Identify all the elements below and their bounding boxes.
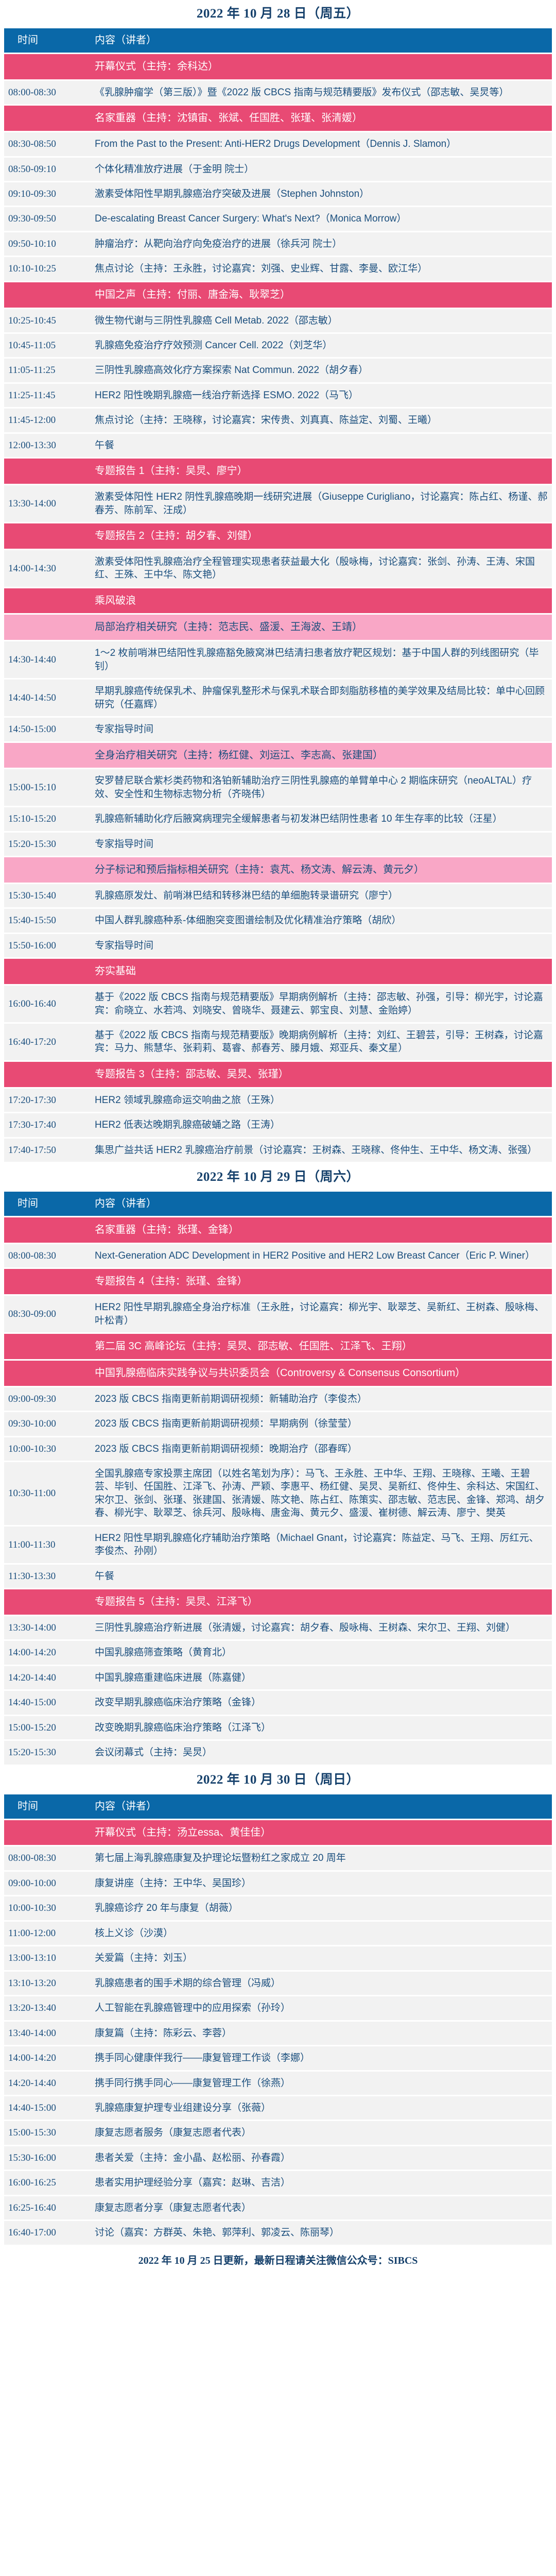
agenda-time: 08:30-08:50 — [4, 132, 86, 156]
agenda-content: 专家指导时间 — [86, 833, 552, 856]
agenda-time: 10:30-11:00 — [4, 1462, 86, 1525]
agenda-row: 14:50-15:00专家指导时间 — [4, 718, 552, 741]
agenda-row: 08:30-08:50From the Past to the Present:… — [4, 132, 552, 156]
agenda-row: 08:00-08:30《乳腺肿瘤学（第三版）》暨《2022 版 CBCS 指南与… — [4, 81, 552, 104]
agenda-content: 乳腺癌诊疗 20 年与康复（胡薇） — [86, 1896, 552, 1920]
agenda-content: 焦点讨论（主持：王永胜，讨论嘉宾：刘强、史业辉、甘露、李曼、欧江华） — [86, 257, 552, 280]
agenda-time: 13:30-14:00 — [4, 1616, 86, 1639]
agenda-row: 13:00-13:10关爱篇（主持：刘玉） — [4, 1946, 552, 1970]
agenda-row: 14:40-15:00改变早期乳腺癌临床治疗策略（金锋） — [4, 1691, 552, 1714]
agenda-content: 乳腺癌康复护理专业组建设分享（张薇） — [86, 2096, 552, 2120]
agenda-row: 15:50-16:00专家指导时间 — [4, 934, 552, 957]
agenda-content: De-escalating Breast Cancer Surgery: Wha… — [86, 207, 552, 230]
agenda-content: 肿瘤治疗：从靶向治疗向免疫治疗的进展（徐兵河 院士） — [86, 232, 552, 256]
agenda-time: 16:00-16:25 — [4, 2171, 86, 2194]
agenda-time — [4, 459, 86, 484]
agenda-time: 15:30-16:00 — [4, 2146, 86, 2170]
agenda-time — [4, 1269, 86, 1294]
agenda-content: 2023 版 CBCS 指南更新前期调研视频：早期病例（徐莹莹） — [86, 1412, 552, 1435]
agenda-row: 15:00-15:30康复志愿者服务（康复志愿者代表） — [4, 2121, 552, 2144]
agenda-content: 午餐 — [86, 434, 552, 457]
agenda-time: 15:20-15:30 — [4, 1741, 86, 1764]
agenda-content: 人工智能在乳腺癌管理中的应用探索（孙玲） — [86, 1996, 552, 2020]
agenda-row: 14:20-14:40携手同行携手同心——康复管理工作（徐燕） — [4, 2072, 552, 2095]
agenda-row: 13:20-13:40人工智能在乳腺癌管理中的应用探索（孙玲） — [4, 1996, 552, 2020]
session-header-row: 专题报告 4（主持：张瑾、金锋） — [4, 1269, 552, 1294]
agenda-time: 15:30-15:40 — [4, 884, 86, 907]
agenda-row: 17:30-17:40HER2 低表达晚期乳腺癌破蛹之路（王涛） — [4, 1113, 552, 1137]
agenda-table: 时间内容（讲者）名家重器（主持：张瑾、金锋）08:00-08:30Next-Ge… — [4, 1190, 552, 1766]
subsession-header-row: 全身治疗相关研究（主持：杨红健、刘运江、李志高、张建国） — [4, 743, 552, 768]
agenda-time: 09:50-10:10 — [4, 232, 86, 256]
agenda-row: 11:30-13:30午餐 — [4, 1565, 552, 1588]
session-header-row: 专题报告 5（主持：吴炅、江泽飞） — [4, 1589, 552, 1615]
agenda-time: 15:50-16:00 — [4, 934, 86, 957]
agenda-content: 患者关爱（主持：金小晶、赵松丽、孙春霞） — [86, 2146, 552, 2170]
agenda-content: 乳腺癌新辅助化疗后腋窝病理完全缓解患者与初发淋巴结阴性患者 10 年生存率的比较… — [86, 807, 552, 831]
agenda-row: 09:00-10:00康复讲座（主持：王中华、吴国珍） — [4, 1872, 552, 1895]
table-header-row: 时间内容（讲者） — [4, 1794, 552, 1819]
column-header-time: 时间 — [4, 1794, 86, 1819]
agenda-row: 09:30-10:002023 版 CBCS 指南更新前期调研视频：早期病例（徐… — [4, 1412, 552, 1435]
agenda-row: 13:30-14:00三阴性乳腺癌治疗新进展（张清媛，讨论嘉宾：胡夕春、殷咏梅、… — [4, 1616, 552, 1639]
agenda-time: 09:00-09:30 — [4, 1387, 86, 1411]
agenda-content: 中国乳腺癌重建临床进展（陈嘉健） — [86, 1666, 552, 1689]
agenda-row: 17:20-17:30HER2 领域乳腺癌命运交响曲之旅（王殊） — [4, 1089, 552, 1112]
agenda-row: 15:40-15:50中国人群乳腺癌种系-体细胞突变图谱绘制及优化精准治疗策略（… — [4, 909, 552, 932]
agenda-time: 13:10-13:20 — [4, 1972, 86, 1995]
session-header-row: 中国之声（主持：付丽、唐金海、耿翠芝） — [4, 282, 552, 308]
agenda-content: 携手同心健康伴我行——康复管理工作谈（李娜） — [86, 2046, 552, 2070]
agenda-content: 开幕仪式（主持：汤立essa、黄佳佳） — [86, 1820, 552, 1845]
agenda-time — [4, 523, 86, 549]
agenda-time: 13:20-13:40 — [4, 1996, 86, 2020]
session-header-row: 名家重器（主持：张瑾、金锋） — [4, 1217, 552, 1243]
agenda-content: 2023 版 CBCS 指南更新前期调研视频：晚期治疗（邵春晖） — [86, 1437, 552, 1461]
agenda-content: 专题报告 1（主持：吴炅、廖宁） — [86, 459, 552, 484]
agenda-time: 13:40-14:00 — [4, 2022, 86, 2045]
agenda-time: 14:40-15:00 — [4, 2096, 86, 2120]
agenda-page: 2022 年 10 月 28 日（周五）时间内容（讲者）开幕仪式（主持：余科达）… — [0, 0, 556, 2275]
subsession-header-row: 局部治疗相关研究（主持：范志民、盛湲、王海波、王靖） — [4, 615, 552, 640]
agenda-row: 14:30-14:401～2 枚前哨淋巴结阳性乳腺癌豁免腋窝淋巴结清扫患者放疗靶… — [4, 641, 552, 678]
agenda-time: 12:00-13:30 — [4, 434, 86, 457]
agenda-row: 09:50-10:10肿瘤治疗：从靶向治疗向免疫治疗的进展（徐兵河 院士） — [4, 232, 552, 256]
agenda-time: 09:30-09:50 — [4, 207, 86, 230]
agenda-time: 08:00-08:30 — [4, 1846, 86, 1870]
agenda-time: 16:40-17:00 — [4, 2221, 86, 2244]
session-header-row: 专题报告 3（主持：邵志敏、吴炅、张瑾） — [4, 1062, 552, 1087]
agenda-content: 乳腺癌患者的围手术期的综合管理（冯威） — [86, 1972, 552, 1995]
agenda-row: 09:30-09:50De-escalating Breast Cancer S… — [4, 207, 552, 230]
session-header-row: 中国乳腺癌临床实践争议与共识委员会（Controversy & Consensu… — [4, 1361, 552, 1386]
agenda-content: 专题报告 5（主持：吴炅、江泽飞） — [86, 1589, 552, 1615]
agenda-row: 11:45-12:00焦点讨论（主持：王晓稼，讨论嘉宾：宋传贵、刘真真、陈益定、… — [4, 409, 552, 432]
agenda-content: 1～2 枚前哨淋巴结阳性乳腺癌豁免腋窝淋巴结清扫患者放疗靶区规划：基于中国人群的… — [86, 641, 552, 678]
agenda-time — [4, 1361, 86, 1386]
agenda-time: 08:00-08:30 — [4, 1244, 86, 1267]
agenda-content: 2023 版 CBCS 指南更新前期调研视频：新辅助治疗（李俊杰） — [86, 1387, 552, 1411]
agenda-time: 17:40-17:50 — [4, 1139, 86, 1162]
agenda-row: 15:30-16:00患者关爱（主持：金小晶、赵松丽、孙春霞） — [4, 2146, 552, 2170]
agenda-time: 13:30-14:00 — [4, 485, 86, 522]
agenda-time: 09:00-10:00 — [4, 1872, 86, 1895]
agenda-time: 16:25-16:40 — [4, 2196, 86, 2219]
agenda-time: 15:40-15:50 — [4, 909, 86, 932]
agenda-content: 个体化精准放疗进展（于金明 院士） — [86, 158, 552, 181]
agenda-content: 中国人群乳腺癌种系-体细胞突变图谱绘制及优化精准治疗策略（胡欣） — [86, 909, 552, 932]
agenda-row: 16:00-16:25患者实用护理经验分享（嘉宾：赵琳、吉洁） — [4, 2171, 552, 2194]
agenda-content: 全国乳腺癌专家投票主席团（以姓名笔划为序）：马飞、王永胜、王中华、王翔、王晓稼、… — [86, 1462, 552, 1525]
agenda-row: 16:00-16:40基于《2022 版 CBCS 指南与规范精要版》早期病例解… — [4, 986, 552, 1022]
agenda-time: 15:20-15:30 — [4, 833, 86, 856]
day-block: 2022 年 10 月 29 日（周六）时间内容（讲者）名家重器（主持：张瑾、金… — [4, 1163, 552, 1766]
session-header-row: 专题报告 1（主持：吴炅、廖宁） — [4, 459, 552, 484]
agenda-time: 15:10-15:20 — [4, 807, 86, 831]
agenda-content: 乳腺癌免疫治疗疗效预测 Cancer Cell. 2022（刘芝华） — [86, 334, 552, 357]
agenda-table: 时间内容（讲者）开幕仪式（主持：余科达）08:00-08:30《乳腺肿瘤学（第三… — [4, 27, 552, 1163]
agenda-row: 08:50-09:10个体化精准放疗进展（于金明 院士） — [4, 158, 552, 181]
agenda-time — [4, 959, 86, 984]
table-header-row: 时间内容（讲者） — [4, 1192, 552, 1216]
agenda-time: 15:00-15:30 — [4, 2121, 86, 2144]
agenda-row: 12:00-13:30午餐 — [4, 434, 552, 457]
agenda-content: 早期乳腺癌传统保乳术、肿瘤保乳整形术与保乳术联合即刻脂肪移植的美学效果及结局比较… — [86, 680, 552, 716]
agenda-time: 11:00-11:30 — [4, 1527, 86, 1563]
agenda-time: 14:00-14:30 — [4, 550, 86, 587]
agenda-time: 11:25-11:45 — [4, 384, 86, 407]
agenda-row: 10:45-11:05乳腺癌免疫治疗疗效预测 Cancer Cell. 2022… — [4, 334, 552, 357]
agenda-time — [4, 588, 86, 614]
agenda-time: 10:10-10:25 — [4, 257, 86, 280]
agenda-content: 患者实用护理经验分享（嘉宾：赵琳、吉洁） — [86, 2171, 552, 2194]
session-header-row: 夯实基础 — [4, 959, 552, 984]
agenda-time: 15:00-15:20 — [4, 1716, 86, 1739]
agenda-content: 关爱篇（主持：刘玉） — [86, 1946, 552, 1970]
agenda-content: HER2 阳性早期乳腺癌全身治疗标准（王永胜，讨论嘉宾：柳光宇、耿翠芝、吴新红、… — [86, 1296, 552, 1332]
days-container: 2022 年 10 月 28 日（周五）时间内容（讲者）开幕仪式（主持：余科达）… — [4, 0, 552, 2246]
day-title: 2022 年 10 月 29 日（周六） — [4, 1163, 552, 1190]
agenda-time — [4, 54, 86, 79]
agenda-time: 10:25-10:45 — [4, 309, 86, 332]
agenda-time: 14:40-15:00 — [4, 1691, 86, 1714]
agenda-row: 14:40-15:00乳腺癌康复护理专业组建设分享（张薇） — [4, 2096, 552, 2120]
agenda-time: 13:00-13:10 — [4, 1946, 86, 1970]
agenda-content: 三阴性乳腺癌高效化疗方案探索 Nat Commun. 2022（胡夕春） — [86, 359, 552, 382]
session-header-row: 开幕仪式（主持：余科达） — [4, 54, 552, 79]
agenda-row: 11:25-11:45HER2 阳性晚期乳腺癌一线治疗新选择 ESMO. 202… — [4, 384, 552, 407]
agenda-content: 名家重器（主持：张瑾、金锋） — [86, 1217, 552, 1243]
agenda-row: 14:00-14:20中国乳腺癌筛查策略（黄育北） — [4, 1641, 552, 1664]
agenda-time: 14:00-14:20 — [4, 1641, 86, 1664]
subsession-header-row: 分子标记和预后指标相关研究（主持：袁芃、杨文涛、解云涛、黄元夕） — [4, 857, 552, 883]
agenda-content: 中国乳腺癌筛查策略（黄育北） — [86, 1641, 552, 1664]
agenda-row: 15:00-15:10安罗替尼联合紫杉类药物和洛铂新辅助治疗三阴性乳腺癌的单臂单… — [4, 769, 552, 806]
agenda-content: 康复志愿者分享（康复志愿者代表） — [86, 2196, 552, 2219]
agenda-content: 《乳腺肿瘤学（第三版）》暨《2022 版 CBCS 指南与规范精要版》发布仪式（… — [86, 81, 552, 104]
agenda-row: 10:30-11:00全国乳腺癌专家投票主席团（以姓名笔划为序）：马飞、王永胜、… — [4, 1462, 552, 1525]
agenda-content: 乘风破浪 — [86, 588, 552, 614]
agenda-row: 10:25-10:45微生物代谢与三阴性乳腺癌 Cell Metab. 2022… — [4, 309, 552, 332]
agenda-content: 专家指导时间 — [86, 718, 552, 741]
agenda-content: 名家重器（主持：沈镇宙、张斌、任国胜、张瑾、张清媛） — [86, 106, 552, 131]
agenda-time: 17:30-17:40 — [4, 1113, 86, 1137]
agenda-row: 08:00-08:30第七届上海乳腺癌康复及护理论坛暨粉红之家成立 20 周年 — [4, 1846, 552, 1870]
agenda-row: 15:10-15:20乳腺癌新辅助化疗后腋窝病理完全缓解患者与初发淋巴结阴性患者… — [4, 807, 552, 831]
agenda-content: HER2 低表达晚期乳腺癌破蛹之路（王涛） — [86, 1113, 552, 1137]
column-header-content: 内容（讲者） — [86, 28, 552, 53]
agenda-content: 第二届 3C 高峰论坛（主持：吴炅、邵志敏、任国胜、江泽飞、王翔） — [86, 1334, 552, 1359]
agenda-time — [4, 1820, 86, 1845]
day-block: 2022 年 10 月 30 日（周日）时间内容（讲者）开幕仪式（主持：汤立es… — [4, 1766, 552, 2246]
agenda-time: 11:45-12:00 — [4, 409, 86, 432]
agenda-content: 激素受体阳性 HER2 阴性乳腺癌晚期一线研究进展（Giuseppe Curig… — [86, 485, 552, 522]
agenda-time: 14:40-14:50 — [4, 680, 86, 716]
agenda-content: 夯实基础 — [86, 959, 552, 984]
agenda-row: 10:00-10:302023 版 CBCS 指南更新前期调研视频：晚期治疗（邵… — [4, 1437, 552, 1461]
day-title: 2022 年 10 月 30 日（周日） — [4, 1766, 552, 1793]
agenda-content: 集思广益共话 HER2 乳腺癌治疗前景（讨论嘉宾：王树森、王晓稼、佟仲生、王中华… — [86, 1139, 552, 1162]
agenda-time: 08:00-08:30 — [4, 81, 86, 104]
agenda-content: 改变早期乳腺癌临床治疗策略（金锋） — [86, 1691, 552, 1714]
agenda-time — [4, 1589, 86, 1615]
agenda-content: 讨论（嘉宾：方群英、朱艳、郭萍利、郭凌云、陈丽琴） — [86, 2221, 552, 2244]
agenda-time: 14:20-14:40 — [4, 2072, 86, 2095]
agenda-content: 中国乳腺癌临床实践争议与共识委员会（Controversy & Consensu… — [86, 1361, 552, 1386]
agenda-time — [4, 615, 86, 640]
agenda-time: 14:50-15:00 — [4, 718, 86, 741]
agenda-content: 全身治疗相关研究（主持：杨红健、刘运江、李志高、张建国） — [86, 743, 552, 768]
agenda-row: 09:10-09:30激素受体阳性早期乳腺癌治疗突破及进展（Stephen Jo… — [4, 182, 552, 206]
agenda-content: 乳腺癌原发灶、前哨淋巴结和转移淋巴结的单细胞转录谱研究（廖宁） — [86, 884, 552, 907]
agenda-row: 15:30-15:40乳腺癌原发灶、前哨淋巴结和转移淋巴结的单细胞转录谱研究（廖… — [4, 884, 552, 907]
column-header-time: 时间 — [4, 1192, 86, 1216]
agenda-content: 激素受体阳性乳腺癌治疗全程管理实现患者获益最大化（殷咏梅，讨论嘉宾：张剑、孙涛、… — [86, 550, 552, 587]
agenda-content: 焦点讨论（主持：王晓稼，讨论嘉宾：宋传贵、刘真真、陈益定、刘蜀、王曦） — [86, 409, 552, 432]
agenda-time: 10:00-10:30 — [4, 1896, 86, 1920]
agenda-content: 第七届上海乳腺癌康复及护理论坛暨粉红之家成立 20 周年 — [86, 1846, 552, 1870]
agenda-row: 14:20-14:40中国乳腺癌重建临床进展（陈嘉健） — [4, 1666, 552, 1689]
agenda-time: 08:50-09:10 — [4, 158, 86, 181]
agenda-time: 11:00-12:00 — [4, 1922, 86, 1945]
session-header-row: 开幕仪式（主持：汤立essa、黄佳佳） — [4, 1820, 552, 1845]
agenda-row: 10:00-10:30乳腺癌诊疗 20 年与康复（胡薇） — [4, 1896, 552, 1920]
agenda-row: 11:05-11:25三阴性乳腺癌高效化疗方案探索 Nat Commun. 20… — [4, 359, 552, 382]
agenda-content: Next-Generation ADC Development in HER2 … — [86, 1244, 552, 1267]
agenda-row: 16:25-16:40康复志愿者分享（康复志愿者代表） — [4, 2196, 552, 2219]
agenda-content: 专家指导时间 — [86, 934, 552, 957]
agenda-row: 15:00-15:20改变晚期乳腺癌临床治疗策略（江泽飞） — [4, 1716, 552, 1739]
agenda-content: 激素受体阳性早期乳腺癌治疗突破及进展（Stephen Johnston） — [86, 182, 552, 206]
agenda-time: 10:00-10:30 — [4, 1437, 86, 1461]
agenda-row: 08:30-09:00HER2 阳性早期乳腺癌全身治疗标准（王永胜，讨论嘉宾：柳… — [4, 1296, 552, 1332]
agenda-row: 15:20-15:30专家指导时间 — [4, 833, 552, 856]
agenda-time: 09:10-09:30 — [4, 182, 86, 206]
column-header-content: 内容（讲者） — [86, 1794, 552, 1819]
agenda-row: 13:10-13:20乳腺癌患者的围手术期的综合管理（冯威） — [4, 1972, 552, 1995]
agenda-content: 基于《2022 版 CBCS 指南与规范精要版》晚期病例解析（主持：刘红、王碧芸… — [86, 1024, 552, 1060]
agenda-time — [4, 1217, 86, 1243]
agenda-row: 11:00-11:30HER2 阳性早期乳腺癌化疗辅助治疗策略（Michael … — [4, 1527, 552, 1563]
agenda-content: 康复篇（主持：陈彩云、李蓉） — [86, 2022, 552, 2045]
agenda-row: 16:40-17:00讨论（嘉宾：方群英、朱艳、郭萍利、郭凌云、陈丽琴） — [4, 2221, 552, 2244]
agenda-content: 康复志愿者服务（康复志愿者代表） — [86, 2121, 552, 2144]
agenda-time: 09:30-10:00 — [4, 1412, 86, 1435]
agenda-row: 13:30-14:00激素受体阳性 HER2 阴性乳腺癌晚期一线研究进展（Giu… — [4, 485, 552, 522]
agenda-content: 改变晚期乳腺癌临床治疗策略（江泽飞） — [86, 1716, 552, 1739]
agenda-row: 14:00-14:20携手同心健康伴我行——康复管理工作谈（李娜） — [4, 2046, 552, 2070]
agenda-content: 专题报告 3（主持：邵志敏、吴炅、张瑾） — [86, 1062, 552, 1087]
agenda-content: HER2 领域乳腺癌命运交响曲之旅（王殊） — [86, 1089, 552, 1112]
agenda-content: 专题报告 4（主持：张瑾、金锋） — [86, 1269, 552, 1294]
agenda-time: 17:20-17:30 — [4, 1089, 86, 1112]
column-header-time: 时间 — [4, 28, 86, 53]
agenda-row: 16:40-17:20基于《2022 版 CBCS 指南与规范精要版》晚期病例解… — [4, 1024, 552, 1060]
agenda-time — [4, 1062, 86, 1087]
session-header-row: 乘风破浪 — [4, 588, 552, 614]
agenda-row: 13:40-14:00康复篇（主持：陈彩云、李蓉） — [4, 2022, 552, 2045]
agenda-table: 时间内容（讲者）开幕仪式（主持：汤立essa、黄佳佳）08:00-08:30第七… — [4, 1793, 552, 2246]
agenda-time — [4, 282, 86, 308]
agenda-content: 开幕仪式（主持：余科达） — [86, 54, 552, 79]
agenda-content: 午餐 — [86, 1565, 552, 1588]
agenda-time: 14:30-14:40 — [4, 641, 86, 678]
agenda-content: 专题报告 2（主持：胡夕春、刘健） — [86, 523, 552, 549]
agenda-content: From the Past to the Present: Anti-HER2 … — [86, 132, 552, 156]
agenda-content: 携手同行携手同心——康复管理工作（徐燕） — [86, 2072, 552, 2095]
agenda-content: 会议闭幕式（主持：吴炅） — [86, 1741, 552, 1764]
agenda-time — [4, 1334, 86, 1359]
footer-note: 2022 年 10 月 25 日更新，最新日程请关注微信公众号：SIBCS — [4, 2246, 552, 2270]
agenda-time: 11:30-13:30 — [4, 1565, 86, 1588]
agenda-row: 17:40-17:50集思广益共话 HER2 乳腺癌治疗前景（讨论嘉宾：王树森、… — [4, 1139, 552, 1162]
agenda-content: 安罗替尼联合紫杉类药物和洛铂新辅助治疗三阴性乳腺癌的单臂单中心 2 期临床研究（… — [86, 769, 552, 806]
agenda-time: 14:20-14:40 — [4, 1666, 86, 1689]
footer-note-line: 2022 年 10 月 25 日更新，最新日程请关注微信公众号：SIBCS — [138, 2255, 418, 2266]
agenda-content: HER2 阳性晚期乳腺癌一线治疗新选择 ESMO. 2022（马飞） — [86, 384, 552, 407]
agenda-row: 10:10-10:25焦点讨论（主持：王永胜，讨论嘉宾：刘强、史业辉、甘露、李曼… — [4, 257, 552, 280]
table-header-row: 时间内容（讲者） — [4, 28, 552, 53]
day-title: 2022 年 10 月 28 日（周五） — [4, 0, 552, 27]
agenda-row: 15:20-15:30会议闭幕式（主持：吴炅） — [4, 1741, 552, 1764]
agenda-time: 14:00-14:20 — [4, 2046, 86, 2070]
agenda-content: 基于《2022 版 CBCS 指南与规范精要版》早期病例解析（主持：邵志敏、孙强… — [86, 986, 552, 1022]
agenda-time: 16:00-16:40 — [4, 986, 86, 1022]
column-header-content: 内容（讲者） — [86, 1192, 552, 1216]
session-header-row: 第二届 3C 高峰论坛（主持：吴炅、邵志敏、任国胜、江泽飞、王翔） — [4, 1334, 552, 1359]
day-block: 2022 年 10 月 28 日（周五）时间内容（讲者）开幕仪式（主持：余科达）… — [4, 0, 552, 1163]
session-header-row: 专题报告 2（主持：胡夕春、刘健） — [4, 523, 552, 549]
agenda-content: 中国之声（主持：付丽、唐金海、耿翠芝） — [86, 282, 552, 308]
agenda-time: 10:45-11:05 — [4, 334, 86, 357]
agenda-content: 局部治疗相关研究（主持：范志民、盛湲、王海波、王靖） — [86, 615, 552, 640]
agenda-time — [4, 857, 86, 883]
agenda-time: 16:40-17:20 — [4, 1024, 86, 1060]
agenda-row: 14:40-14:50早期乳腺癌传统保乳术、肿瘤保乳整形术与保乳术联合即刻脂肪移… — [4, 680, 552, 716]
agenda-row: 09:00-09:302023 版 CBCS 指南更新前期调研视频：新辅助治疗（… — [4, 1387, 552, 1411]
agenda-time: 11:05-11:25 — [4, 359, 86, 382]
agenda-time: 15:00-15:10 — [4, 769, 86, 806]
agenda-row: 11:00-12:00核上义诊（沙漠） — [4, 1922, 552, 1945]
agenda-content: 微生物代谢与三阴性乳腺癌 Cell Metab. 2022（邵志敏） — [86, 309, 552, 332]
session-header-row: 名家重器（主持：沈镇宙、张斌、任国胜、张瑾、张清媛） — [4, 106, 552, 131]
agenda-content: HER2 阳性早期乳腺癌化疗辅助治疗策略（Michael Gnant，讨论嘉宾：… — [86, 1527, 552, 1563]
agenda-content: 三阴性乳腺癌治疗新进展（张清媛，讨论嘉宾：胡夕春、殷咏梅、王树森、宋尔卫、王翔、… — [86, 1616, 552, 1639]
agenda-row: 14:00-14:30激素受体阳性乳腺癌治疗全程管理实现患者获益最大化（殷咏梅，… — [4, 550, 552, 587]
agenda-content: 康复讲座（主持：王中华、吴国珍） — [86, 1872, 552, 1895]
agenda-time: 08:30-09:00 — [4, 1296, 86, 1332]
agenda-content: 分子标记和预后指标相关研究（主持：袁芃、杨文涛、解云涛、黄元夕） — [86, 857, 552, 883]
agenda-time — [4, 743, 86, 768]
agenda-row: 08:00-08:30Next-Generation ADC Developme… — [4, 1244, 552, 1267]
agenda-time — [4, 106, 86, 131]
agenda-content: 核上义诊（沙漠） — [86, 1922, 552, 1945]
